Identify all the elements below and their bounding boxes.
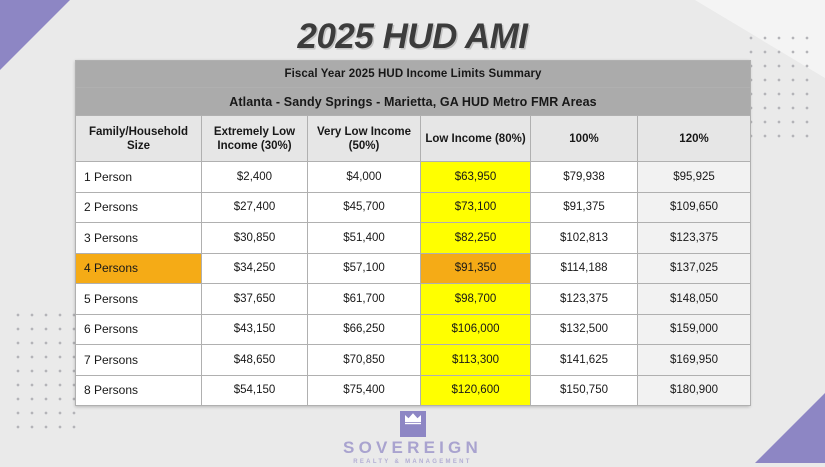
cell-vli: $4,000 (308, 162, 421, 193)
cell-eli: $34,250 (202, 253, 308, 284)
cell-vli: $66,250 (308, 314, 421, 345)
table-row: 6 Persons$43,150$66,250$106,000$132,500$… (76, 314, 751, 345)
cell-p100: $132,500 (531, 314, 638, 345)
ami-table: Fiscal Year 2025 HUD Income Limits Summa… (75, 60, 751, 406)
cell-p120: $159,000 (638, 314, 751, 345)
cell-p100: $141,625 (531, 345, 638, 376)
cell-li: $63,950 (421, 162, 531, 193)
cell-p120: $180,900 (638, 375, 751, 406)
band-title: Fiscal Year 2025 HUD Income Limits Summa… (76, 61, 751, 88)
cell-p120: $169,950 (638, 345, 751, 376)
cell-size: 5 Persons (76, 284, 202, 315)
company-logo: SOVEREIGN REALTY & MANAGEMENT (0, 407, 825, 467)
cell-p100: $114,188 (531, 253, 638, 284)
cell-vli: $45,700 (308, 192, 421, 223)
column-header-120: 120% (638, 116, 751, 162)
table-row: 3 Persons$30,850$51,400$82,250$102,813$1… (76, 223, 751, 254)
cell-p120: $137,025 (638, 253, 751, 284)
cell-li: $73,100 (421, 192, 531, 223)
cell-size: 2 Persons (76, 192, 202, 223)
cell-p120: $123,375 (638, 223, 751, 254)
cell-li: $106,000 (421, 314, 531, 345)
cell-vli: $61,700 (308, 284, 421, 315)
column-header-vli: Very Low Income (50%) (308, 116, 421, 162)
cell-size: 7 Persons (76, 345, 202, 376)
table-row: 4 Persons$34,250$57,100$91,350$114,188$1… (76, 253, 751, 284)
cell-p100: $102,813 (531, 223, 638, 254)
table-header: Fiscal Year 2025 HUD Income Limits Summa… (76, 61, 751, 162)
table-row: 1 Person$2,400$4,000$63,950$79,938$95,92… (76, 162, 751, 193)
cell-size: 6 Persons (76, 314, 202, 345)
cell-p100: $79,938 (531, 162, 638, 193)
cell-li: $82,250 (421, 223, 531, 254)
cell-eli: $54,150 (202, 375, 308, 406)
cell-size: 3 Persons (76, 223, 202, 254)
column-header-size: Family/Household Size (76, 116, 202, 162)
logo-name: SOVEREIGN (0, 439, 825, 457)
cell-p100: $123,375 (531, 284, 638, 315)
cell-li: $91,350 (421, 253, 531, 284)
page-title: 2025 HUD AMI (0, 17, 825, 57)
cell-eli: $2,400 (202, 162, 308, 193)
table-body: 1 Person$2,400$4,000$63,950$79,938$95,92… (76, 162, 751, 406)
table-row: 8 Persons$54,150$75,400$120,600$150,750$… (76, 375, 751, 406)
cell-p120: $95,925 (638, 162, 751, 193)
cell-vli: $75,400 (308, 375, 421, 406)
cell-eli: $30,850 (202, 223, 308, 254)
cell-li: $120,600 (421, 375, 531, 406)
cell-eli: $43,150 (202, 314, 308, 345)
column-header-100: 100% (531, 116, 638, 162)
table-column-header-row: Family/Household Size Extremely Low Inco… (76, 116, 751, 162)
cell-p100: $150,750 (531, 375, 638, 406)
cell-p120: $109,650 (638, 192, 751, 223)
band-subtitle: Atlanta - Sandy Springs - Marietta, GA H… (76, 88, 751, 116)
table-row: 5 Persons$37,650$61,700$98,700$123,375$1… (76, 284, 751, 315)
table-row: 7 Persons$48,650$70,850$113,300$141,625$… (76, 345, 751, 376)
cell-vli: $70,850 (308, 345, 421, 376)
cell-eli: $48,650 (202, 345, 308, 376)
table-band-subtitle-row: Atlanta - Sandy Springs - Marietta, GA H… (76, 88, 751, 116)
table-row: 2 Persons$27,400$45,700$73,100$91,375$10… (76, 192, 751, 223)
table-band-title-row: Fiscal Year 2025 HUD Income Limits Summa… (76, 61, 751, 88)
cell-eli: $37,650 (202, 284, 308, 315)
cell-li: $113,300 (421, 345, 531, 376)
cell-size: 8 Persons (76, 375, 202, 406)
cell-vli: $57,100 (308, 253, 421, 284)
cell-vli: $51,400 (308, 223, 421, 254)
ami-table-container: Fiscal Year 2025 HUD Income Limits Summa… (75, 60, 750, 406)
logo-tagline: REALTY & MANAGEMENT (0, 457, 825, 467)
cell-size: 4 Persons (76, 253, 202, 284)
cell-eli: $27,400 (202, 192, 308, 223)
column-header-eli: Extremely Low Income (30%) (202, 116, 308, 162)
column-header-li: Low Income (80%) (421, 116, 531, 162)
cell-p100: $91,375 (531, 192, 638, 223)
cell-size: 1 Person (76, 162, 202, 193)
crown-icon (400, 411, 426, 437)
cell-li: $98,700 (421, 284, 531, 315)
cell-p120: $148,050 (638, 284, 751, 315)
